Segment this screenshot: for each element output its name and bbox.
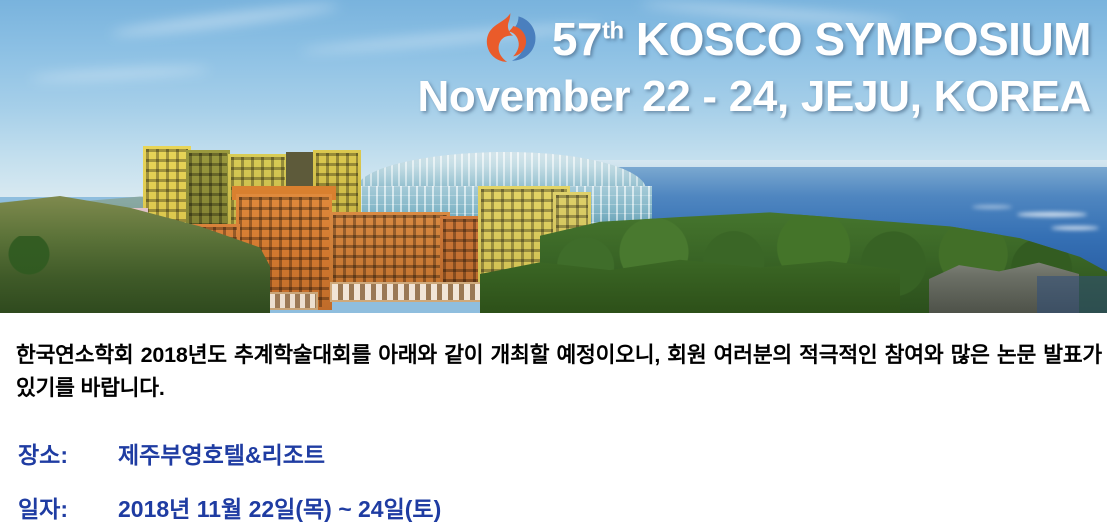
symposium-edition-number: 57 (552, 13, 602, 65)
symposium-title: 57th KOSCO SYMPOSIUM (552, 16, 1091, 62)
surf-line (972, 205, 1012, 209)
hero-banner: 57th KOSCO SYMPOSIUM November 22 - 24, J… (0, 0, 1107, 313)
venue-label: 장소: (18, 436, 118, 470)
cliff-water-shadow (1037, 276, 1107, 313)
symposium-subtitle: November 22 - 24, JEJU, KOREA (391, 74, 1091, 120)
banner-text-block: 57th KOSCO SYMPOSIUM November 22 - 24, J… (391, 8, 1091, 120)
resort-wing-right (330, 212, 450, 286)
surf-line (1017, 212, 1087, 217)
announcement-paragraph: 한국연소학회 2018년도 추계학술대회를 아래와 같이 개최할 예정이오니, … (16, 339, 1102, 406)
symposium-edition-ordinal: th (602, 18, 624, 45)
palm-tree (6, 236, 52, 296)
venue-value: 제주부영호텔&리조트 (118, 436, 325, 470)
banner-title-row: 57th KOSCO SYMPOSIUM (391, 8, 1091, 70)
announcement-body: 한국연소학회 2018년도 추계학술대회를 아래와 같이 개최할 예정이오니, … (0, 313, 1115, 527)
venue-line: 장소: 제주부영호텔&리조트 (18, 436, 325, 470)
announcement-page: 57th KOSCO SYMPOSIUM November 22 - 24, J… (0, 0, 1115, 527)
surf-line (1051, 226, 1099, 230)
date-line: 일자: 2018년 11월 22일(목) ~ 24일(토) (18, 490, 441, 524)
date-value: 2018년 11월 22일(목) ~ 24일(토) (118, 490, 441, 524)
date-label: 일자: (18, 490, 118, 524)
symposium-title-text: KOSCO SYMPOSIUM (636, 13, 1091, 65)
kosco-flame-wave-logo (484, 12, 540, 64)
